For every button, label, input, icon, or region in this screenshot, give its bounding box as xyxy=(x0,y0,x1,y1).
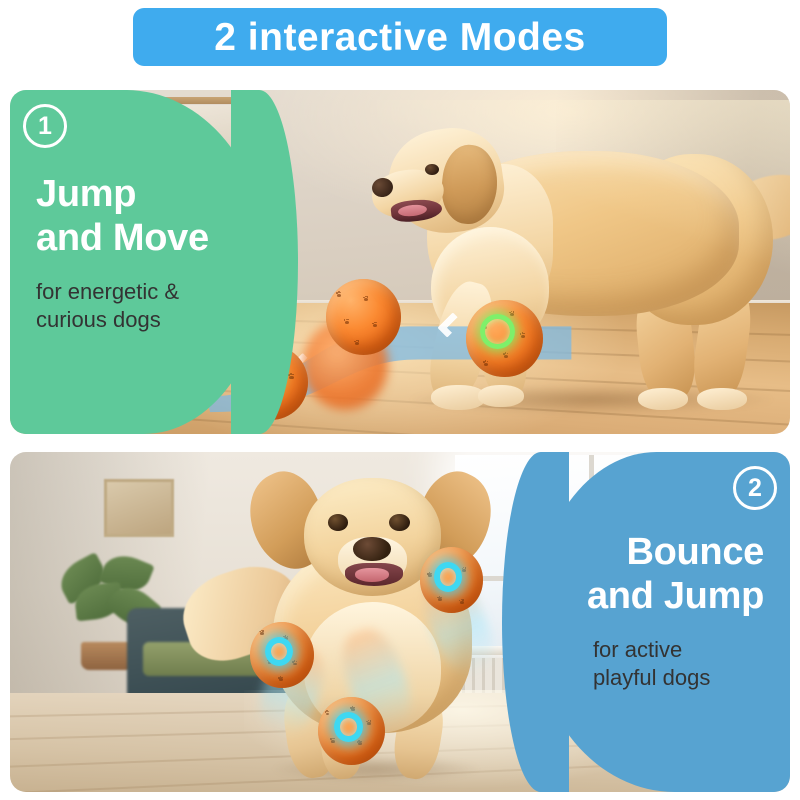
panel-2-text-block: Bounce and Jump for active playful dogs xyxy=(587,530,764,692)
panel-1-subtitle: for energetic & curious dogs xyxy=(36,278,209,334)
panel-1-title: Jump and Move xyxy=(36,172,209,260)
panel-2-number-badge: 2 xyxy=(733,466,777,510)
scene1-ball-left-glow-ring xyxy=(247,358,281,393)
header-banner: 2 interactive Modes xyxy=(133,8,667,66)
scene2-ball-right-glow-ring xyxy=(434,562,462,591)
scene1-ball-left xyxy=(233,345,308,421)
scene1-ball-mid xyxy=(326,279,401,355)
scene2-ball-right xyxy=(420,547,484,613)
scene2-ball-bottom xyxy=(318,697,385,765)
mode-panel-2: 2 Bounce and Jump for active playful dog… xyxy=(10,452,790,792)
infographic-page: 2 interactive Modes xyxy=(0,0,800,800)
header-title: 2 interactive Modes xyxy=(214,18,585,57)
panel-1-number: 1 xyxy=(38,114,52,139)
scene2-ball-left xyxy=(250,622,314,688)
panel-2-title: Bounce and Jump xyxy=(587,530,764,618)
panel-1-text-block: Jump and Move for energetic & curious do… xyxy=(36,172,209,334)
scene2-picture-frame xyxy=(104,479,174,537)
panel-1-number-badge: 1 xyxy=(23,104,67,148)
mode-panel-1: 1 Jump and Move for energetic & curious … xyxy=(10,90,790,434)
scene2-ball-bottom-glow-ring xyxy=(334,712,364,742)
panel-2-subtitle: for active playful dogs xyxy=(593,636,764,692)
scene1-ball-right xyxy=(466,300,542,377)
panel-2-number: 2 xyxy=(748,476,762,501)
